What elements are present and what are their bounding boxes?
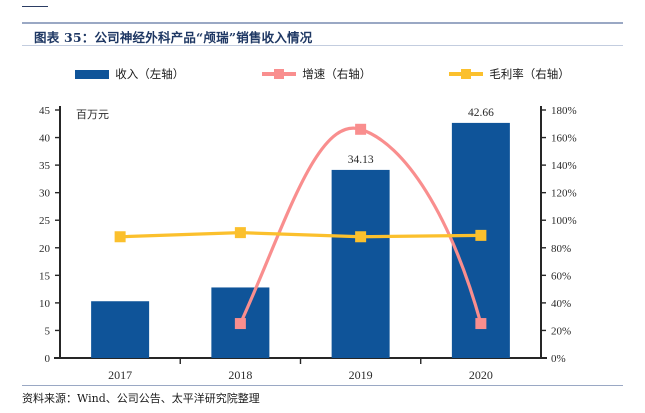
line-marker[interactable]: [355, 231, 366, 242]
figure-title-band: 图表 35：公司神经外科产品“颅瑞”销售收入情况: [22, 22, 623, 46]
right-axis-tick-label: 140%: [551, 160, 577, 172]
x-axis-category-label: 2019: [349, 368, 373, 381]
line-marker[interactable]: [235, 227, 246, 238]
left-axis-tick-label: 10: [39, 298, 51, 310]
left-axis-tick-label: 35: [39, 160, 51, 172]
right-axis-tick-label: 80%: [551, 243, 571, 255]
right-axis-tick-label: 0%: [551, 353, 566, 365]
line-marker[interactable]: [115, 231, 126, 242]
right-axis-tick-label: 180%: [551, 105, 577, 117]
legend-item-gross-margin[interactable]: 毛利率（右轴）: [449, 66, 570, 82]
bar-2017[interactable]: [91, 301, 149, 358]
bar-value-label: 42.66: [468, 107, 494, 119]
right-axis-tick-label: 160%: [551, 133, 577, 145]
chart-legend: 收入（左轴） 增速（右轴） 毛利率（右轴）: [0, 62, 645, 86]
right-axis-tick-label: 40%: [551, 298, 571, 310]
legend-label-gross-margin: 毛利率（右轴）: [489, 66, 570, 82]
x-axis-category-label: 2018: [228, 368, 252, 381]
left-axis-tick-label: 5: [45, 325, 51, 337]
top-corner-rule: [22, 6, 48, 7]
page-title: 图表 35：公司神经外科产品“颅瑞”销售收入情况: [34, 27, 312, 46]
left-axis-tick-label: 45: [39, 105, 51, 117]
x-axis-category-label: 2017: [108, 368, 132, 381]
left-axis-tick-label: 0: [45, 353, 51, 365]
legend-label-revenue: 收入（左轴）: [115, 66, 184, 82]
line-swatch-icon-growth: [262, 68, 296, 80]
left-axis-tick-label: 15: [39, 270, 51, 282]
line-毛利率右轴[interactable]: [120, 233, 481, 237]
chart-plot-area: 0510152025303540450%20%40%60%80%100%120%…: [0, 96, 645, 381]
line-marker[interactable]: [475, 230, 486, 241]
bar-2019[interactable]: [332, 170, 390, 358]
legend-item-revenue[interactable]: 收入（左轴）: [75, 66, 184, 82]
legend-item-growth[interactable]: 增速（右轴）: [262, 66, 371, 82]
line-marker[interactable]: [355, 124, 366, 135]
right-axis-tick-label: 20%: [551, 325, 571, 337]
source-text: 资料来源：Wind、公司公告、太平洋研究院整理: [22, 390, 623, 406]
figure-source: 资料来源：Wind、公司公告、太平洋研究院整理: [22, 385, 623, 406]
right-axis-tick-label: 60%: [551, 270, 571, 282]
left-axis-tick-label: 40: [39, 133, 51, 145]
line-marker[interactable]: [235, 318, 246, 329]
right-axis-tick-label: 100%: [551, 215, 577, 227]
y-axis-unit-label: 百万元: [76, 108, 109, 121]
right-axis-tick-label: 120%: [551, 188, 577, 200]
left-axis-tick-label: 20: [39, 243, 51, 255]
line-swatch-icon-margin: [449, 68, 483, 80]
bar-value-label: 34.13: [348, 154, 374, 166]
bar-swatch-icon: [75, 68, 109, 80]
revenue-growth-margin-chart: 0510152025303540450%20%40%60%80%100%120%…: [0, 96, 645, 381]
left-axis-tick-label: 25: [39, 215, 51, 227]
x-axis-category-label: 2020: [469, 368, 493, 381]
legend-label-growth: 增速（右轴）: [302, 66, 371, 82]
line-marker[interactable]: [475, 318, 486, 329]
left-axis-tick-label: 30: [39, 188, 51, 200]
